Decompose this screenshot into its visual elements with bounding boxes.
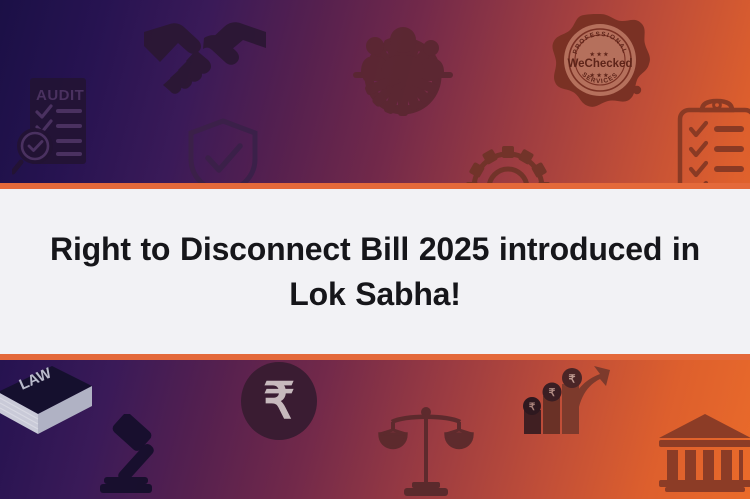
scales-of-justice-icon bbox=[378, 404, 474, 498]
handshake-icon bbox=[140, 14, 270, 98]
svg-text:₹: ₹ bbox=[529, 402, 536, 413]
headline-band: Right to Disconnect Bill 2025 introduced… bbox=[0, 183, 750, 360]
page-title: Right to Disconnect Bill 2025 introduced… bbox=[39, 227, 711, 315]
svg-text:★★★: ★★★ bbox=[589, 52, 611, 58]
law-book-label: LAW bbox=[17, 364, 55, 393]
team-gear-check-icon bbox=[345, 18, 461, 122]
headline-inner: Right to Disconnect Bill 2025 introduced… bbox=[25, 227, 725, 315]
wax-seal-wechecked-icon: PROFESSIONAL SERVICES ★★★ WeChecked ★★★ bbox=[548, 12, 652, 112]
svg-text:₹: ₹ bbox=[549, 387, 556, 399]
law-book-icon: LAW bbox=[0, 362, 96, 444]
social-media-banner: AUDIT bbox=[0, 0, 750, 499]
gavel-icon bbox=[100, 414, 190, 498]
svg-text:₹: ₹ bbox=[569, 374, 576, 386]
audit-label: AUDIT bbox=[36, 87, 84, 104]
rupee-coin-icon: ₹ bbox=[240, 362, 318, 440]
seal-ring-bottom-text: SERVICES bbox=[580, 71, 619, 85]
seal-ring-top-text: PROFESSIONAL bbox=[572, 31, 628, 55]
clipboard-checklist-icon bbox=[674, 98, 750, 190]
rupee-growth-chart-icon: ₹ ₹ ₹ bbox=[516, 364, 612, 442]
seal-brand-text: WeChecked bbox=[568, 58, 633, 70]
rupee-symbol: ₹ bbox=[263, 373, 295, 429]
audit-document-icon: AUDIT bbox=[12, 76, 104, 184]
gear-icon bbox=[456, 114, 560, 194]
government-building-icon bbox=[655, 412, 750, 492]
svg-text:★★★: ★★★ bbox=[589, 73, 611, 79]
